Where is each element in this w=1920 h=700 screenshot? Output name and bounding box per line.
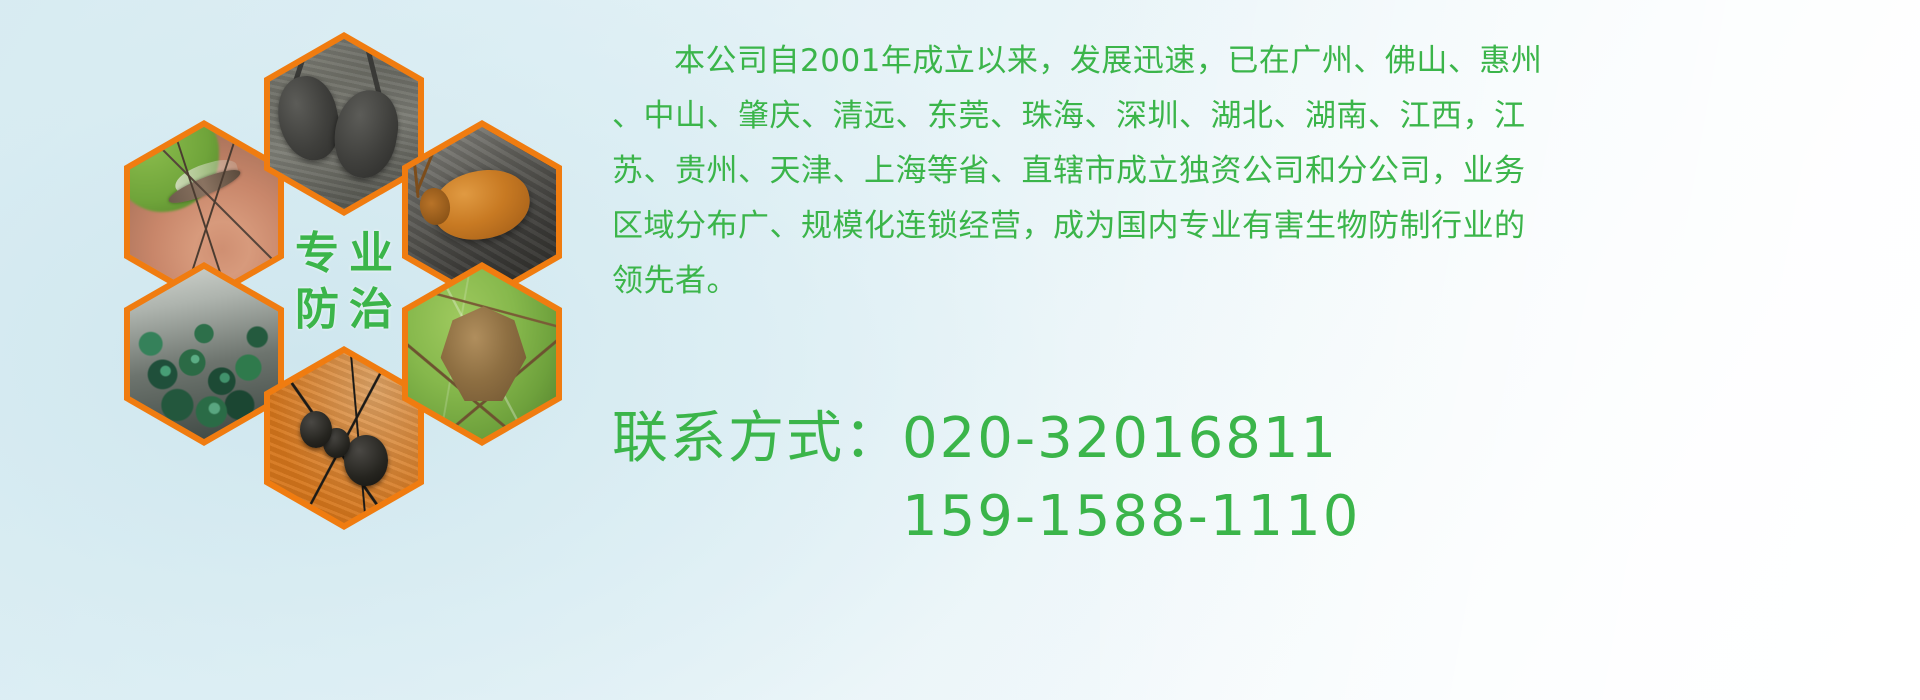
rat-icon (270, 39, 418, 209)
contact-secondary-row: 159-1588-1110 (612, 478, 1360, 556)
description-line-5: 领先者。 (612, 254, 1902, 309)
description-line-3: 苏、贵州、天津、上海等省、直辖市成立独资公司和分公司，业务 (612, 144, 1902, 199)
contact-block: 联系方式：020-32016811 159-1588-1110 (612, 400, 1360, 556)
phone-number-primary[interactable]: 020-32016811 (902, 406, 1338, 471)
specialty-badge: 专业 防治 (264, 190, 424, 374)
flies-photo-frame (130, 269, 278, 439)
phone-number-secondary[interactable]: 159-1588-1110 (902, 484, 1360, 549)
stinkbug-icon (408, 269, 556, 439)
ant-icon (270, 353, 418, 523)
stinkbug-photo-hexagon (402, 262, 562, 446)
description-paragraph: 本公司自2001年成立以来，发展迅速，已在广州、佛山、惠州 、中山、肇庆、清远、… (612, 34, 1902, 309)
description-line-2: 、中山、肇庆、清远、东莞、珠海、深圳、湖北、湖南、江西，江 (612, 89, 1902, 144)
ant-photo-frame (270, 353, 418, 523)
badge-line-2: 防治 (285, 287, 403, 333)
flies-photo-hexagon (124, 262, 284, 446)
description-line-1: 本公司自2001年成立以来，发展迅速，已在广州、佛山、惠州 (612, 34, 1902, 89)
pest-control-banner: 专业 防治 本公司自2001年成立以来，发展迅速，已在广州、佛山、惠州 、中山、… (0, 0, 1920, 700)
description-line-4: 区域分布广、规模化连锁经营，成为国内专业有害生物防制行业的 (612, 199, 1902, 254)
contact-label: 联系方式： (612, 406, 902, 471)
contact-primary-row: 联系方式：020-32016811 (612, 400, 1360, 478)
stinkbug-photo-frame (408, 269, 556, 439)
rats-photo-frame (270, 39, 418, 209)
badge-line-1: 专业 (285, 231, 403, 277)
rats-photo-hexagon (264, 32, 424, 216)
company-description: 本公司自2001年成立以来，发展迅速，已在广州、佛山、惠州 、中山、肇庆、清远、… (612, 34, 1902, 309)
fly-icon (130, 269, 278, 439)
hexagon-photo-cluster: 专业 防治 (90, 10, 590, 580)
